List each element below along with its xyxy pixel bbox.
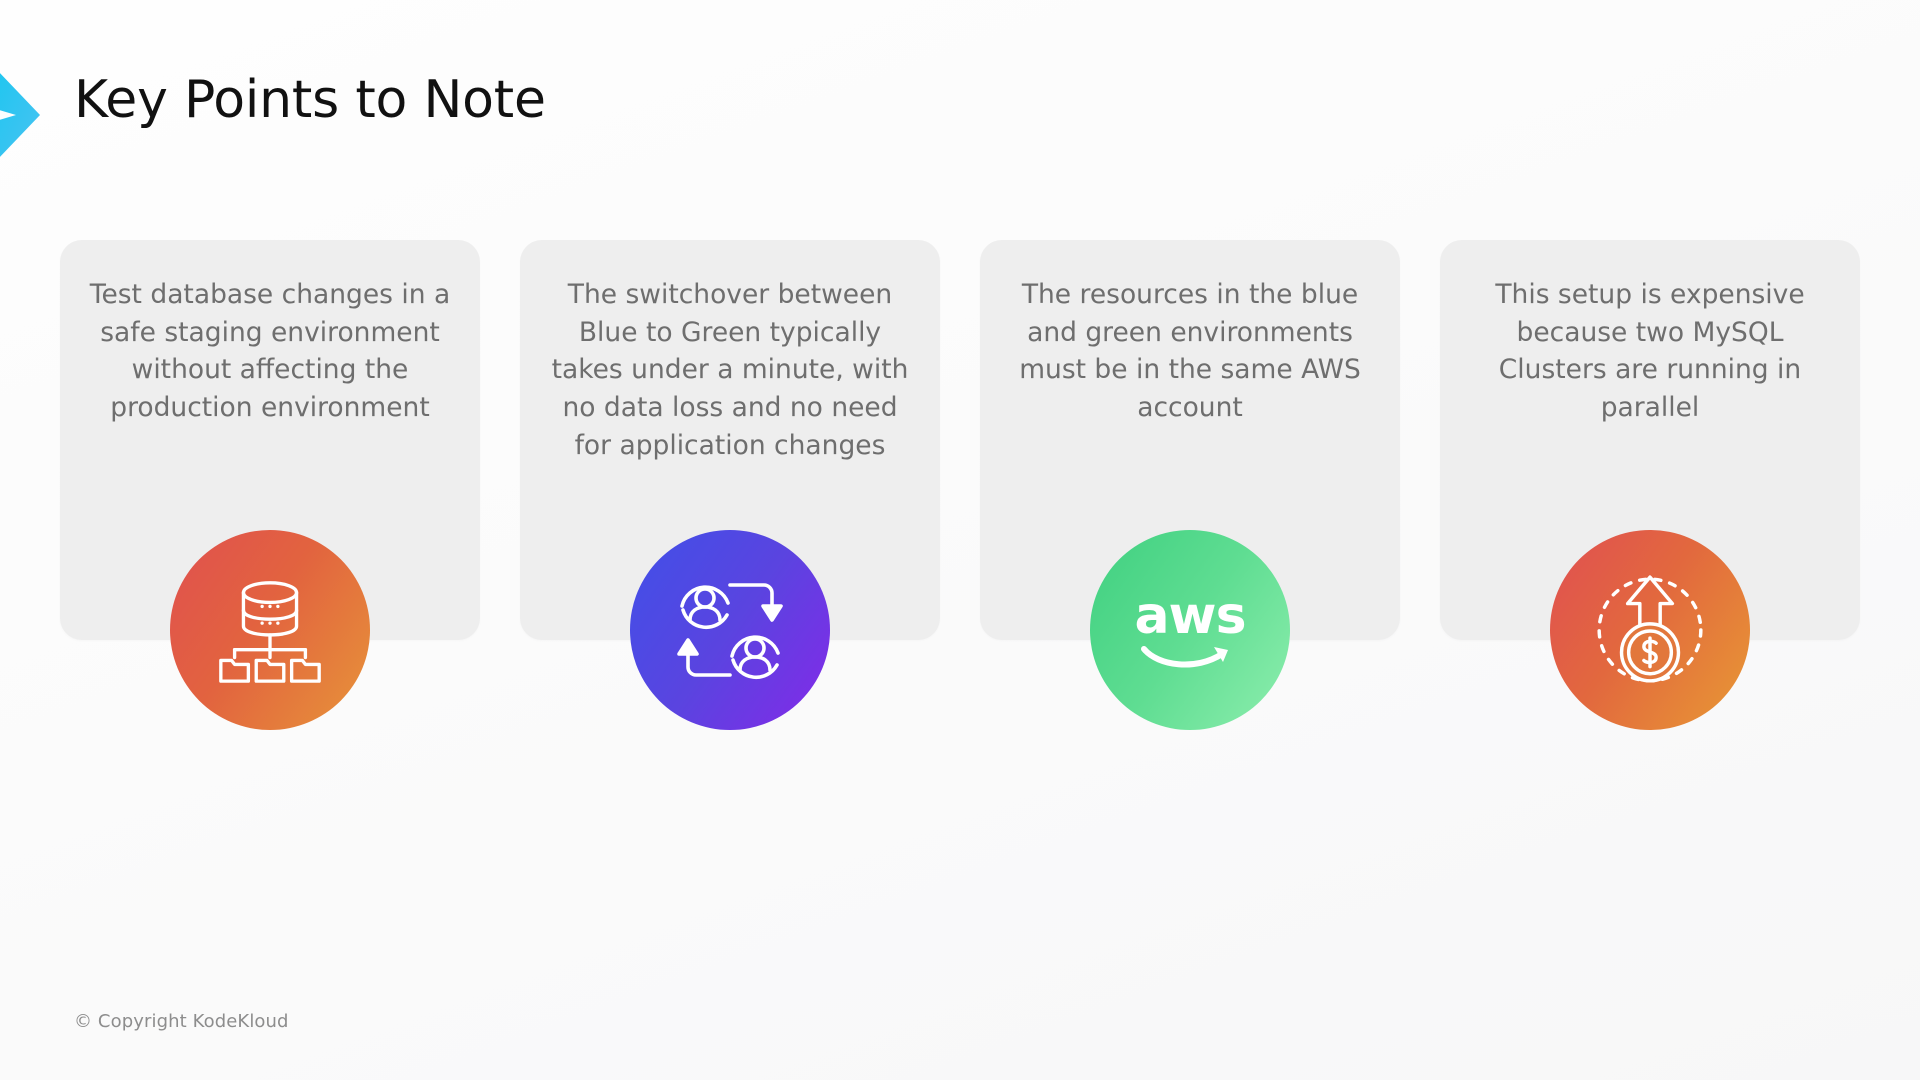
page-title: Key Points to Note [74, 65, 546, 135]
card-text: This setup is expensive because two MySQ… [1466, 276, 1834, 427]
card-text: The resources in the blue and green envi… [1006, 276, 1374, 427]
slide-root: Key Points to Note Test database changes… [0, 0, 1920, 1080]
aws-logo-icon: aws [1090, 530, 1290, 730]
key-point-card-1[interactable]: Test database changes in a safe staging … [60, 240, 480, 640]
key-point-card-4[interactable]: This setup is expensive because two MySQ… [1440, 240, 1860, 640]
chevron-right-icon [0, 65, 42, 165]
key-points-card-row: Test database changes in a safe staging … [60, 240, 1860, 640]
aws-smile-icon [1140, 644, 1240, 670]
user-swap-icon [630, 530, 830, 730]
key-point-card-3[interactable]: The resources in the blue and green envi… [980, 240, 1400, 640]
database-hierarchy-icon [170, 530, 370, 730]
key-point-card-2[interactable]: The switchover between Blue to Green typ… [520, 240, 940, 640]
aws-wordmark: aws [1134, 590, 1245, 642]
card-text: Test database changes in a safe staging … [86, 276, 454, 427]
copyright-footer: © Copyright KodeKloud [74, 1011, 289, 1032]
slide-header: Key Points to Note [0, 55, 1920, 165]
rising-cost-icon [1550, 530, 1750, 730]
card-text: The switchover between Blue to Green typ… [546, 276, 914, 464]
